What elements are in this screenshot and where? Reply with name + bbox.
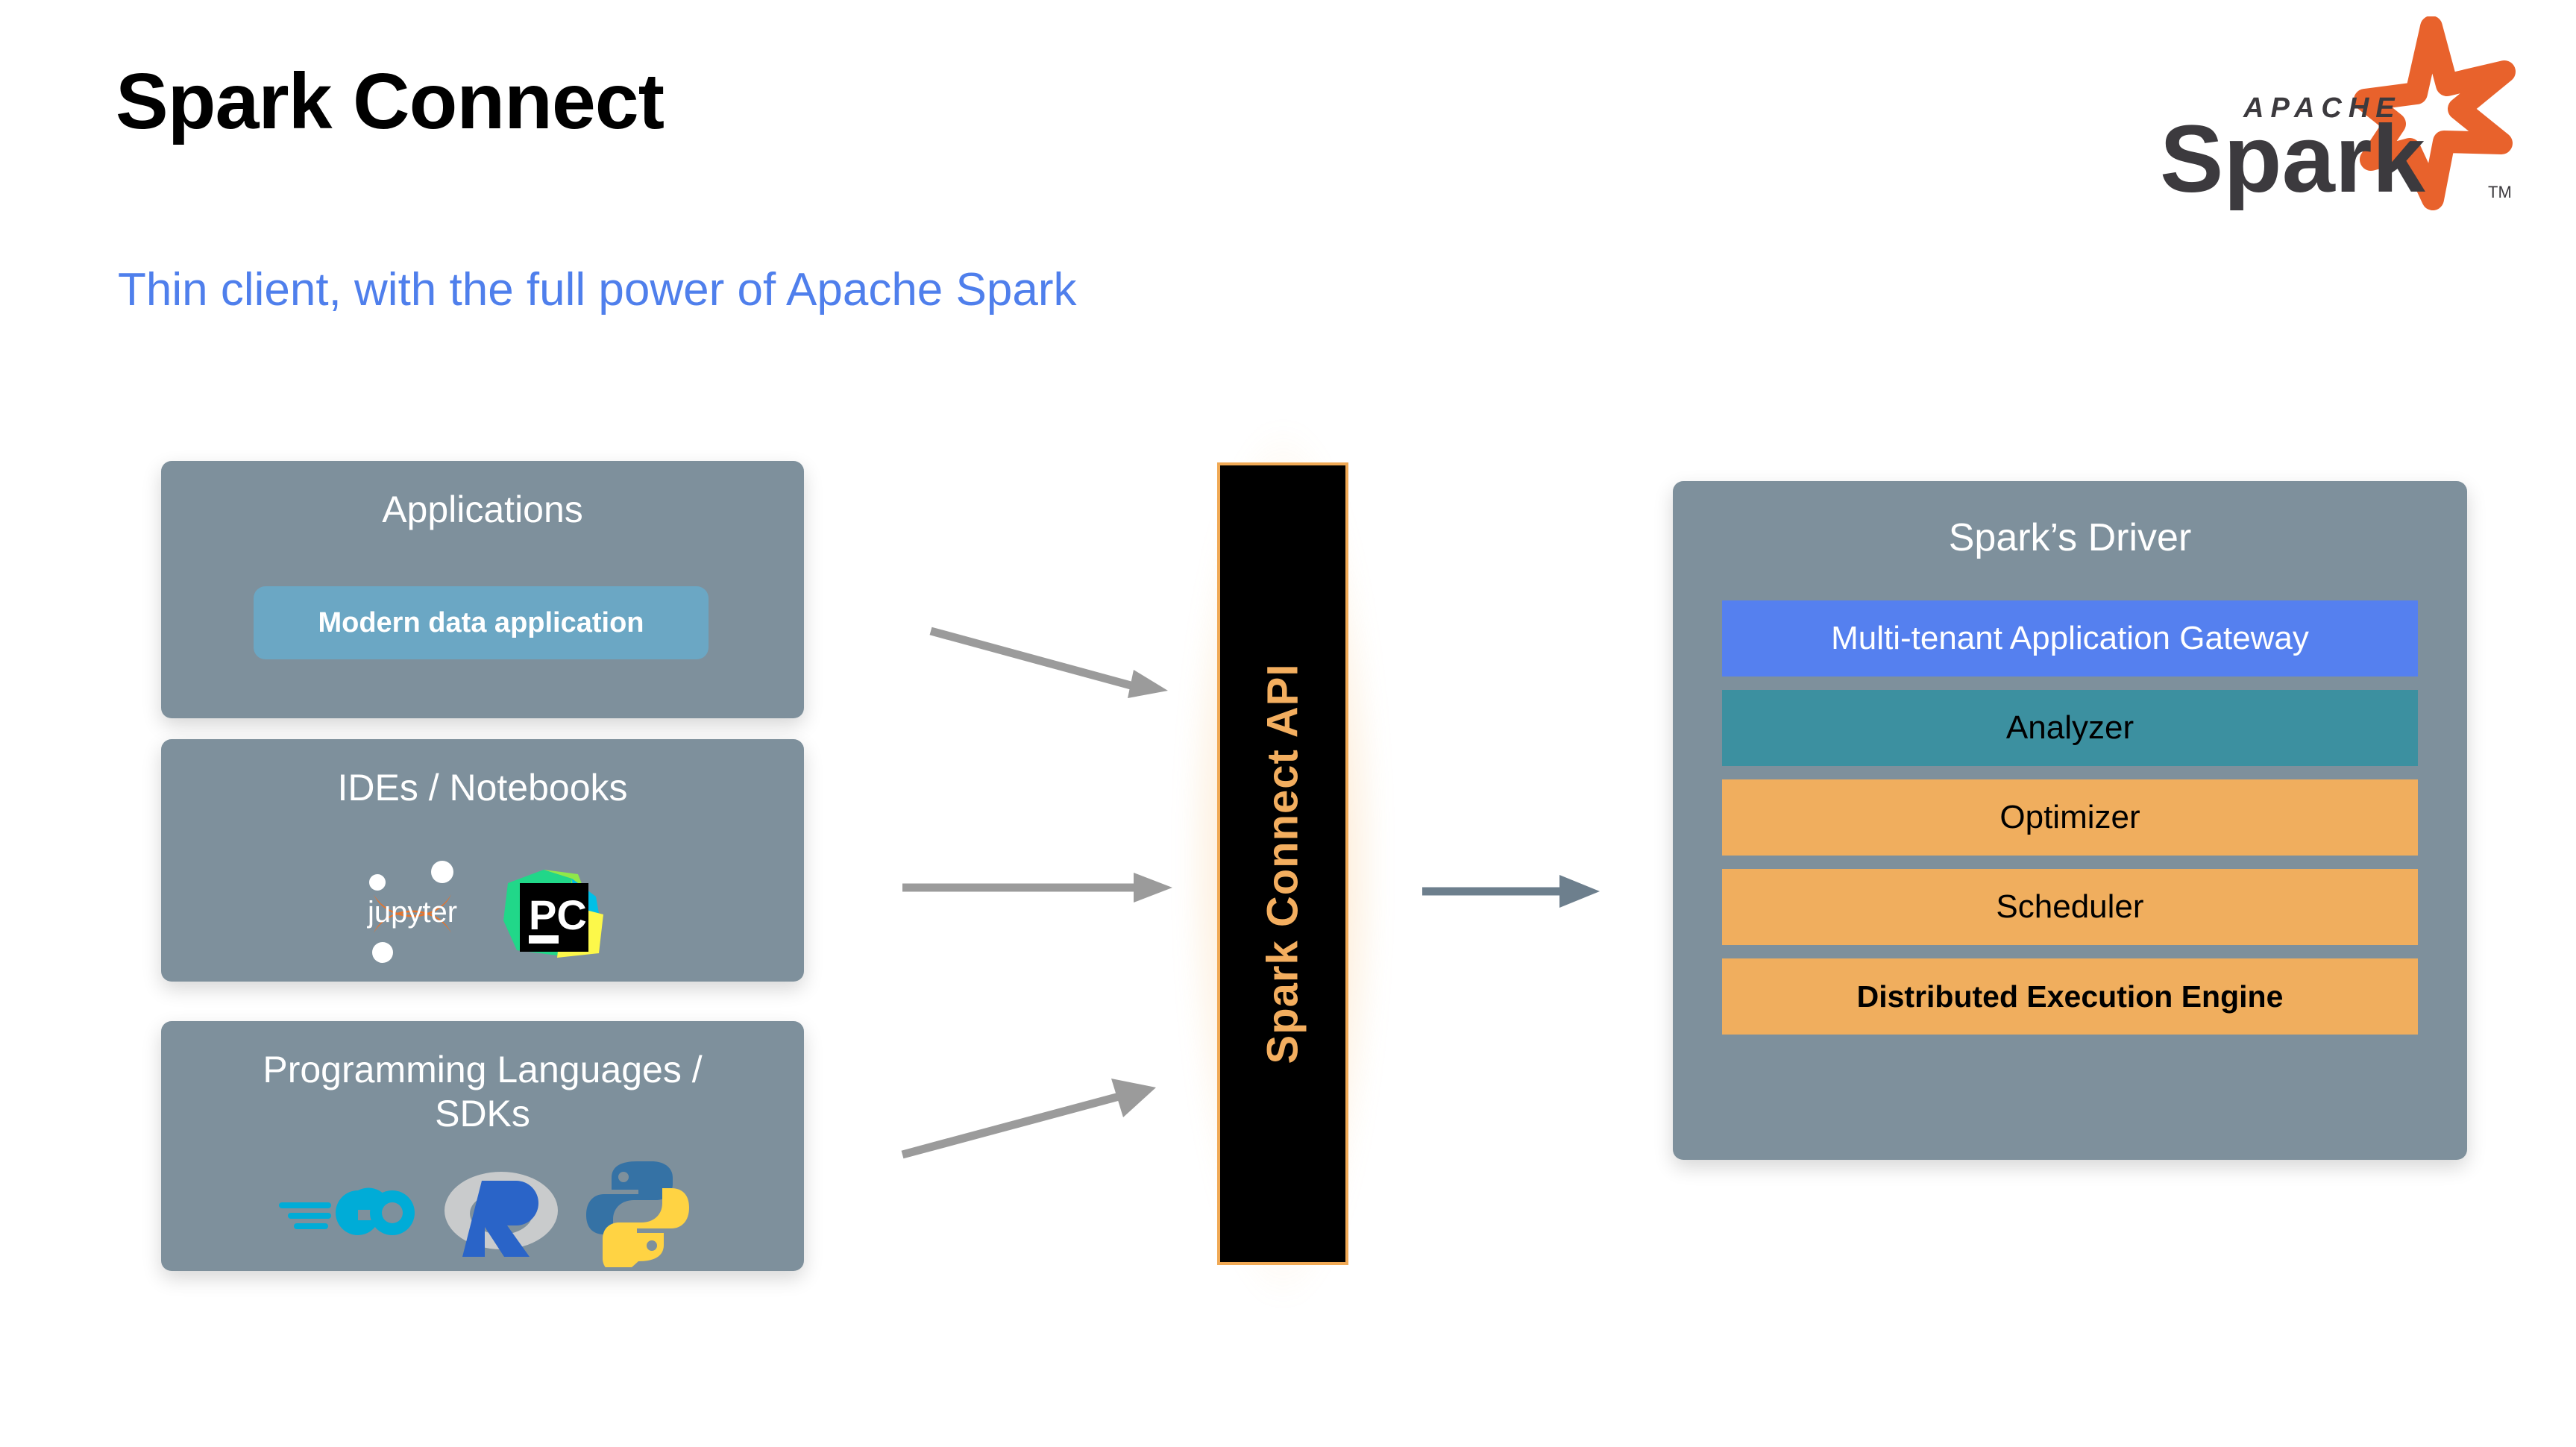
card-ides-notebooks[interactable]: IDEs / Notebooks jupyter PC [161,739,804,982]
language-logo-row: R [161,1155,804,1271]
pycharm-logo: PC [494,852,612,973]
card-programming-languages-sdks[interactable]: Programming Languages / SDKs R [161,1021,804,1271]
spark-wordmark: Spark [2160,106,2426,210]
card-applications-title: Applications [161,461,804,532]
modern-data-application-pill[interactable]: Modern data application [254,586,709,659]
arrow-languages-to-api [888,1052,1201,1171]
ide-logo-row: jupyter PC [161,851,804,974]
spark-connect-api-bar[interactable]: Spark Connect API [1217,462,1348,1265]
arrow-applications-to-api [888,612,1201,716]
driver-component-stack: Multi-tenant Application Gateway Analyze… [1722,600,2418,1035]
driver-row-analyzer[interactable]: Analyzer [1722,690,2418,766]
arrow-ides-to-api [888,858,1201,917]
page-subtitle: Thin client, with the full power of Apac… [118,265,1076,316]
jupyter-logo: jupyter [353,851,472,974]
api-bar-label: Spark Connect API [1258,664,1308,1064]
arrow-api-to-driver [1413,861,1618,921]
driver-row-optimizer[interactable]: Optimizer [1722,779,2418,856]
go-logo [271,1167,421,1260]
driver-row-scheduler[interactable]: Scheduler [1722,869,2418,945]
trademark-mark: TM [2488,183,2512,201]
spark-driver-title: Spark’s Driver [1673,481,2467,560]
apache-spark-logo: APACHE Spark TM [2154,16,2542,210]
card-languages-title-line2: SDKs [435,1093,530,1134]
card-ides-notebooks-title: IDEs / Notebooks [161,739,804,810]
driver-row-multi-tenant-application-gateway[interactable]: Multi-tenant Application Gateway [1722,600,2418,677]
spark-driver-card[interactable]: Spark’s Driver Multi-tenant Application … [1673,481,2467,1160]
driver-row-distributed-execution-engine[interactable]: Distributed Execution Engine [1722,958,2418,1035]
jupyter-wordmark: jupyter [367,896,457,929]
api-bar-body: Spark Connect API [1217,462,1348,1265]
card-languages-title-line1: Programming Languages / [263,1049,702,1090]
r-logo: R [442,1155,561,1271]
page-title: Spark Connect [116,58,664,145]
python-logo [582,1155,694,1271]
card-applications[interactable]: Applications Modern data application [161,461,804,718]
pycharm-wordmark: PC [529,891,587,938]
card-languages-title: Programming Languages / SDKs [161,1021,804,1136]
